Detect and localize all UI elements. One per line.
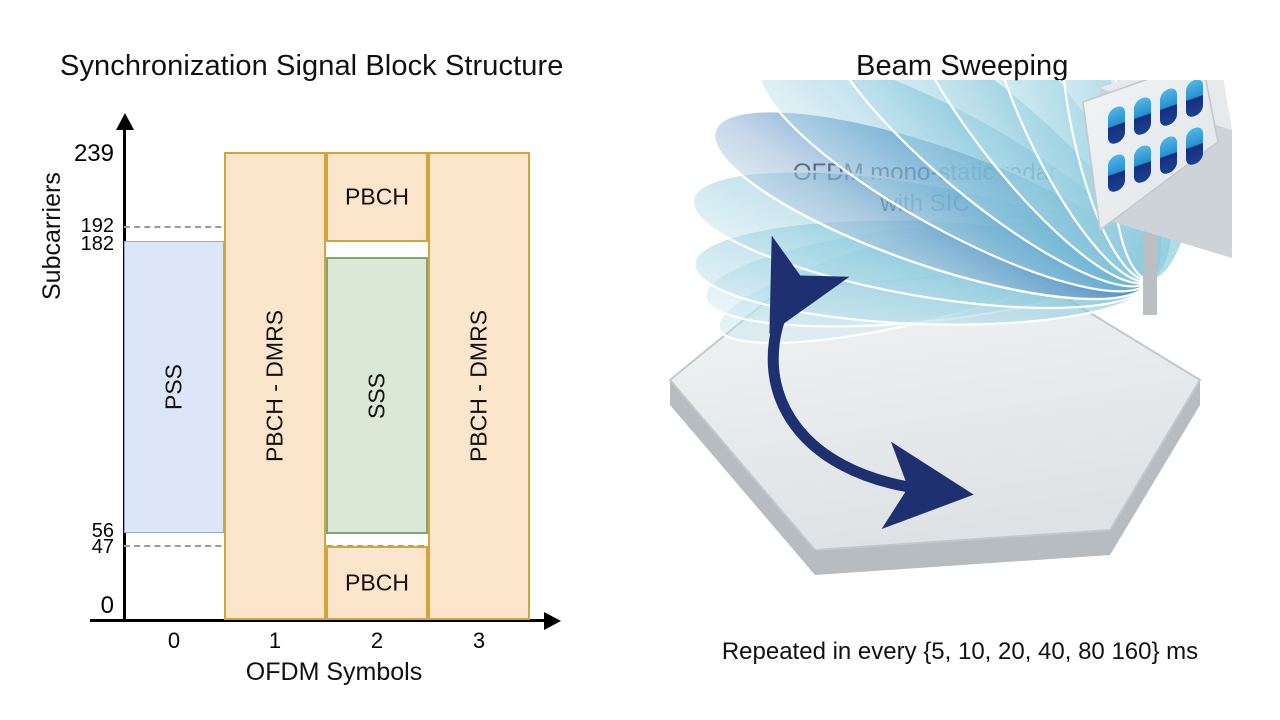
block-pbch-top[interactable]: PBCH xyxy=(326,152,428,242)
block-pbch-dmrs-right[interactable]: PBCH - DMRS xyxy=(428,152,530,620)
beam-sweeping-illustration xyxy=(640,80,1280,620)
x-tick-2: 2 xyxy=(347,628,407,654)
y-axis-title: Subcarriers xyxy=(38,172,67,300)
block-pss[interactable]: PSS xyxy=(124,241,224,533)
y-tick-56: 56 xyxy=(0,531,118,532)
block-pbch-dmrs-left-label: PBCH - DMRS xyxy=(262,310,289,462)
block-pbch-dmrs-left[interactable]: PBCH - DMRS xyxy=(224,152,326,620)
y-tick-239: 239 xyxy=(0,153,118,154)
beam-sweeping-panel: Beam Sweeping OFDM mono-static radar wit… xyxy=(640,0,1280,720)
y-axis-arrow-icon xyxy=(116,113,134,130)
block-pss-label: PSS xyxy=(161,364,188,410)
x-tick-3: 3 xyxy=(449,628,509,654)
y-tick-47-label: 47 xyxy=(92,536,114,559)
x-tick-0: 0 xyxy=(144,628,204,654)
y-tick-47: 47 xyxy=(0,547,118,548)
y-tick-0-label: 0 xyxy=(101,592,114,620)
block-sss-label: SSS xyxy=(364,372,391,418)
ssb-chart: 239 192 182 56 47 0 PSS PBCH - DMRS PBCH xyxy=(0,0,640,720)
beam-caption: Repeated in every {5, 10, 20, 40, 80 160… xyxy=(640,638,1280,666)
ssb-panel: Synchronization Signal Block Structure 2… xyxy=(0,0,640,720)
block-pbch-dmrs-right-label: PBCH - DMRS xyxy=(466,310,493,462)
block-pbch-bottom[interactable]: PBCH xyxy=(326,546,428,620)
x-axis-title: OFDM Symbols xyxy=(184,658,484,687)
x-axis-arrow-icon xyxy=(544,612,561,630)
block-pbch-top-label: PBCH xyxy=(328,184,426,211)
x-tick-1: 1 xyxy=(245,628,305,654)
y-tick-239-label: 239 xyxy=(74,140,114,168)
y-tick-182-label: 182 xyxy=(81,233,114,256)
page-title-beam: Beam Sweeping xyxy=(856,50,1069,83)
block-sss[interactable]: SSS xyxy=(326,257,428,534)
block-pbch-bottom-label: PBCH xyxy=(328,570,426,597)
y-tick-0: 0 xyxy=(0,605,118,606)
